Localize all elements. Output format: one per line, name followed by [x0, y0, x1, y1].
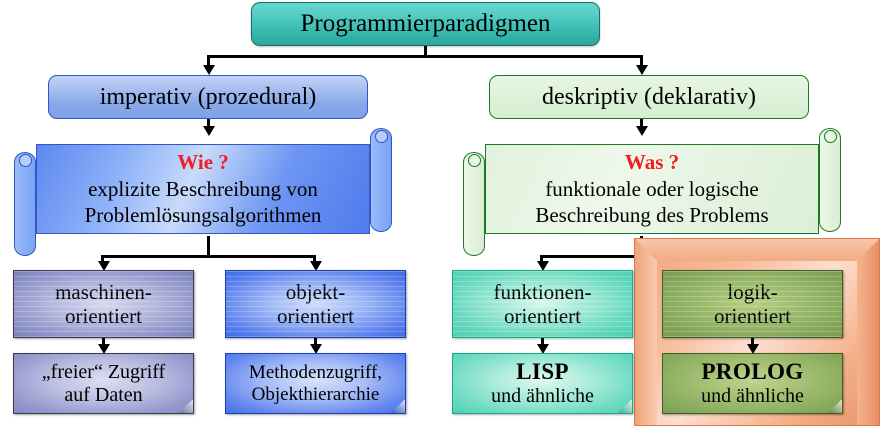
scroll-was-text: Was ? funktionale oder logische Beschrei… — [487, 146, 817, 232]
node-objekt-line2: orientiert — [277, 304, 354, 328]
node-maschinen-line2: orientiert — [65, 304, 142, 328]
node-lisp-name: LISP — [516, 359, 569, 386]
scroll-was[interactable]: Was ? funktionale oder logische Beschrei… — [463, 136, 841, 248]
arrow-to-imperativ — [203, 65, 215, 75]
node-prolog-subtitle: und ähnliche — [701, 385, 804, 408]
node-lisp[interactable]: LISP und ähnliche — [452, 353, 633, 414]
scroll-wie[interactable]: Wie ? explizite Beschreibung von Problem… — [14, 136, 392, 248]
scroll-was-line2: Beschreibung des Problems — [535, 203, 768, 228]
scroll-curl-left-icon — [463, 152, 485, 256]
node-freier-line2: auf Daten — [64, 384, 142, 407]
node-methoden-line1: Methodenzugriff, — [249, 362, 382, 384]
node-deskriptiv[interactable]: deskriptiv (deklarativ) — [489, 75, 809, 119]
node-imperativ-label: imperativ (prozedural) — [100, 84, 317, 111]
scroll-was-question: Was ? — [625, 150, 679, 175]
arrow-to-deskriptiv — [636, 65, 648, 75]
connector-root-bar — [207, 55, 643, 58]
node-funktionen-orientiert[interactable]: funktionen- orientiert — [452, 270, 633, 338]
arrow-to-was — [636, 126, 648, 136]
scroll-knob-left-icon — [19, 154, 32, 167]
highlight-bevel-left — [635, 239, 657, 425]
node-root[interactable]: Programmierparadigmen — [251, 2, 600, 46]
scroll-knob-left-icon — [468, 154, 481, 167]
node-deskriptiv-label: deskriptiv (deklarativ) — [542, 84, 756, 111]
node-maschinen-orientiert[interactable]: maschinen- orientiert — [13, 270, 194, 338]
node-logik-orientiert[interactable]: logik- orientiert — [662, 270, 843, 338]
scroll-wie-text: Wie ? explizite Beschreibung von Problem… — [38, 146, 368, 232]
scroll-curl-left-icon — [14, 152, 36, 256]
node-prolog[interactable]: PROLOG und ähnliche — [662, 353, 843, 414]
scroll-wie-line1: explizite Beschreibung von — [88, 177, 318, 202]
node-methoden-line2: Objekthierarchie — [252, 384, 380, 406]
scroll-was-line1: funktionale oder logische — [545, 177, 758, 202]
node-logik-line1: logik- — [727, 280, 777, 304]
scroll-curl-right-icon — [370, 128, 392, 232]
node-methodenzugriff[interactable]: Methodenzugriff, Objekthierarchie — [225, 353, 406, 414]
node-objekt-orientiert[interactable]: objekt- orientiert — [225, 270, 406, 338]
node-objekt-line1: objekt- — [286, 280, 345, 304]
node-freier-line1: „freier“ Zugriff — [42, 361, 165, 384]
highlight-bevel-right — [857, 239, 879, 425]
node-funktionen-line2: orientiert — [504, 304, 581, 328]
node-prolog-name: PROLOG — [701, 359, 803, 386]
scroll-knob-right-icon — [375, 130, 388, 143]
node-root-label: Programmierparadigmen — [301, 10, 551, 38]
scroll-wie-question: Wie ? — [177, 150, 229, 175]
node-freier-zugriff[interactable]: „freier“ Zugriff auf Daten — [13, 353, 194, 414]
diagram-canvas: Programmierparadigmen imperativ (prozedu… — [0, 0, 880, 426]
arrow-to-prolog — [747, 344, 759, 354]
node-logik-line2: orientiert — [714, 304, 791, 328]
scroll-knob-right-icon — [824, 130, 837, 143]
node-imperativ[interactable]: imperativ (prozedural) — [48, 75, 368, 119]
arrow-to-wie — [203, 126, 215, 136]
node-funktionen-line1: funktionen- — [494, 280, 592, 304]
scroll-curl-right-icon — [819, 128, 841, 232]
node-maschinen-line1: maschinen- — [55, 280, 152, 304]
connector-wie-bar — [101, 255, 313, 258]
node-lisp-subtitle: und ähnliche — [491, 385, 594, 408]
scroll-wie-line2: Problemlösungsalgorithmen — [85, 203, 322, 228]
